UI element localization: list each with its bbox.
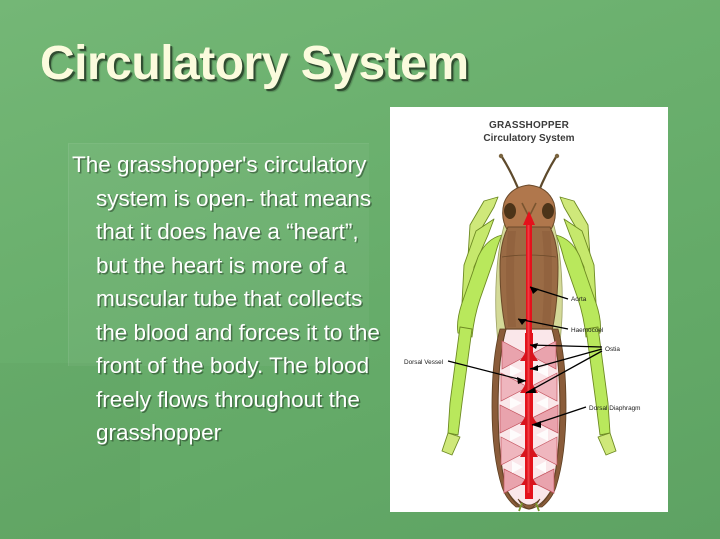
left-tarsus	[442, 433, 460, 455]
left-antenna-tip	[499, 154, 503, 158]
left-eye	[504, 203, 516, 219]
slide-canvas: Circulatory System The grasshopper's cir…	[0, 0, 720, 539]
body-paragraph: The grasshopper's circulatory system is …	[72, 148, 392, 450]
left-hind-tibia	[448, 327, 472, 435]
antennae-tips	[499, 154, 559, 158]
label-ostia: Ostia	[605, 346, 620, 353]
vessel-highlight	[528, 225, 530, 493]
right-eye	[542, 203, 554, 219]
page-title: Circulatory System	[40, 36, 600, 91]
right-hind-tibia	[586, 327, 610, 435]
label-haemocoel: Haemocoel	[571, 327, 603, 334]
label-aorta: Aorta	[571, 296, 587, 303]
grasshopper-diagram: Aorta Haemocoel Ostia Dorsal Diaphragm D…	[390, 107, 668, 512]
figure-card: GRASSHOPPER Circulatory System	[390, 107, 668, 512]
label-dorsal-vessel: Dorsal Vessel	[404, 359, 443, 366]
right-tarsus	[598, 433, 616, 455]
right-antenna-tip	[555, 154, 559, 158]
label-dorsal-diaphragm: Dorsal Diaphragm	[589, 405, 641, 412]
